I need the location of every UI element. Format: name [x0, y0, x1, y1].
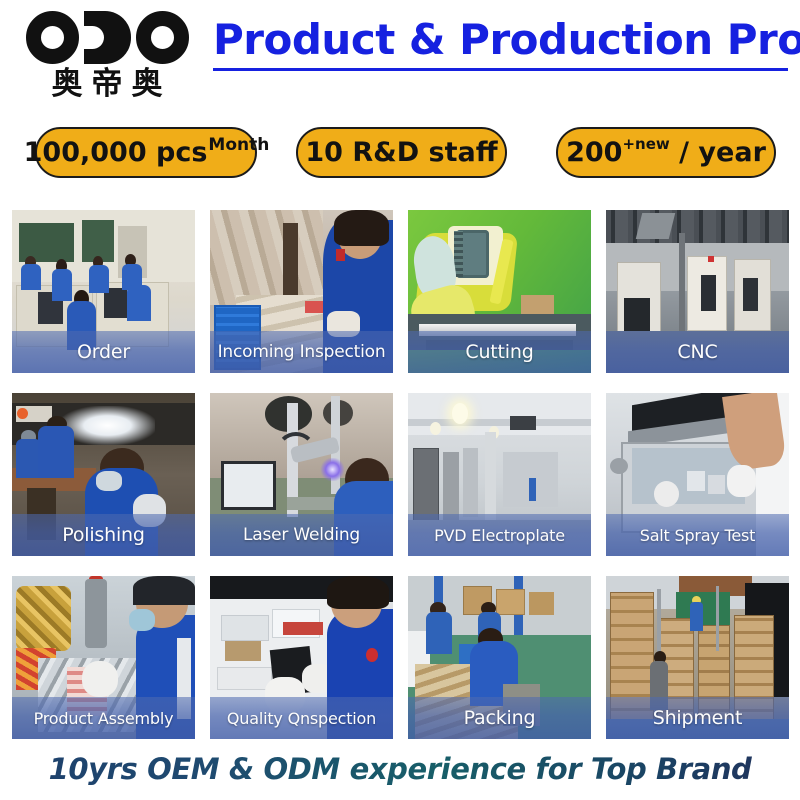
process-cell-cutting[interactable]: Cutting — [408, 210, 591, 373]
badge-capacity: 100,000 pcsMonth — [35, 127, 257, 178]
page-title-wrap: Product & Production Process — [213, 16, 788, 71]
process-cell-pvd-electroplate[interactable]: PVD Electroplate — [408, 393, 591, 556]
title-underline — [213, 68, 788, 71]
page-title: Product & Production Process — [213, 16, 788, 63]
process-cell-quality-inspection[interactable]: Quality Qnspection — [210, 576, 393, 739]
company-logo: 奥帝奥 — [12, 8, 202, 108]
badge-rd-staff: 10 R&D staff — [296, 127, 507, 178]
caption-band: Order — [12, 331, 195, 373]
caption-band: Shipment — [606, 697, 789, 739]
badge-new-products: 200+new / year — [556, 127, 776, 178]
process-label-incoming-inspection: Incoming Inspection — [218, 342, 386, 362]
badge-new-products-count: 200 — [566, 137, 622, 168]
process-cell-laser-welding[interactable]: Laser Welding — [210, 393, 393, 556]
caption-band: Incoming Inspection — [210, 331, 393, 373]
process-label-quality-inspection: Quality Qnspection — [227, 709, 376, 728]
product-process-poster: 奥帝奥 Product & Production Process 100,000… — [0, 0, 800, 800]
capability-badges: 100,000 pcsMonth 10 R&D staff 200+new / … — [0, 127, 800, 181]
circle-o-icon — [136, 11, 189, 64]
process-cell-incoming-inspection[interactable]: Incoming Inspection — [210, 210, 393, 373]
process-label-polishing: Polishing — [62, 524, 145, 546]
process-cell-order[interactable]: Order — [12, 210, 195, 373]
caption-band: PVD Electroplate — [408, 514, 591, 556]
caption-band: Polishing — [12, 514, 195, 556]
process-label-laser-welding: Laser Welding — [243, 525, 360, 545]
process-label-cutting: Cutting — [465, 341, 533, 363]
process-label-product-assembly: Product Assembly — [34, 709, 174, 728]
badge-rd-staff-label: 10 R&D staff — [305, 137, 497, 168]
process-label-pvd-electroplate: PVD Electroplate — [434, 526, 565, 545]
letter-d-icon — [84, 11, 131, 64]
caption-band: CNC — [606, 331, 789, 373]
process-cell-cnc[interactable]: CNC — [606, 210, 789, 373]
process-label-salt-spray-test: Salt Spray Test — [640, 526, 756, 545]
poster-header: 奥帝奥 Product & Production Process — [0, 0, 800, 115]
caption-band: Packing — [408, 697, 591, 739]
caption-band: Quality Qnspection — [210, 697, 393, 739]
badge-new-products-unit: / year — [679, 137, 766, 168]
badge-capacity-sup: Month — [208, 135, 269, 155]
circle-o-icon — [26, 11, 79, 64]
process-label-order: Order — [77, 341, 130, 363]
caption-band: Salt Spray Test — [606, 514, 789, 556]
caption-band: Product Assembly — [12, 697, 195, 739]
process-label-packing: Packing — [464, 707, 536, 729]
badge-capacity-label: 100,000 pcs — [24, 137, 208, 168]
process-cell-product-assembly[interactable]: Product Assembly — [12, 576, 195, 739]
process-cell-salt-spray-test[interactable]: Salt Spray Test — [606, 393, 789, 556]
logo-chinese-name: 奥帝奥 — [43, 68, 172, 101]
process-photo-grid: Order Incoming Inspection — [12, 210, 788, 740]
process-label-shipment: Shipment — [653, 707, 743, 729]
caption-band: Laser Welding — [210, 514, 393, 556]
process-cell-shipment[interactable]: Shipment — [606, 576, 789, 739]
footer-tagline: 10yrs OEM & ODM experience for Top Brand — [0, 752, 800, 786]
process-cell-polishing[interactable]: Polishing — [12, 393, 195, 556]
process-cell-packing[interactable]: Packing — [408, 576, 591, 739]
logo-wordmark — [26, 8, 189, 66]
process-label-cnc: CNC — [677, 341, 717, 363]
caption-band: Cutting — [408, 331, 591, 373]
badge-new-products-sup: +new — [622, 135, 669, 153]
